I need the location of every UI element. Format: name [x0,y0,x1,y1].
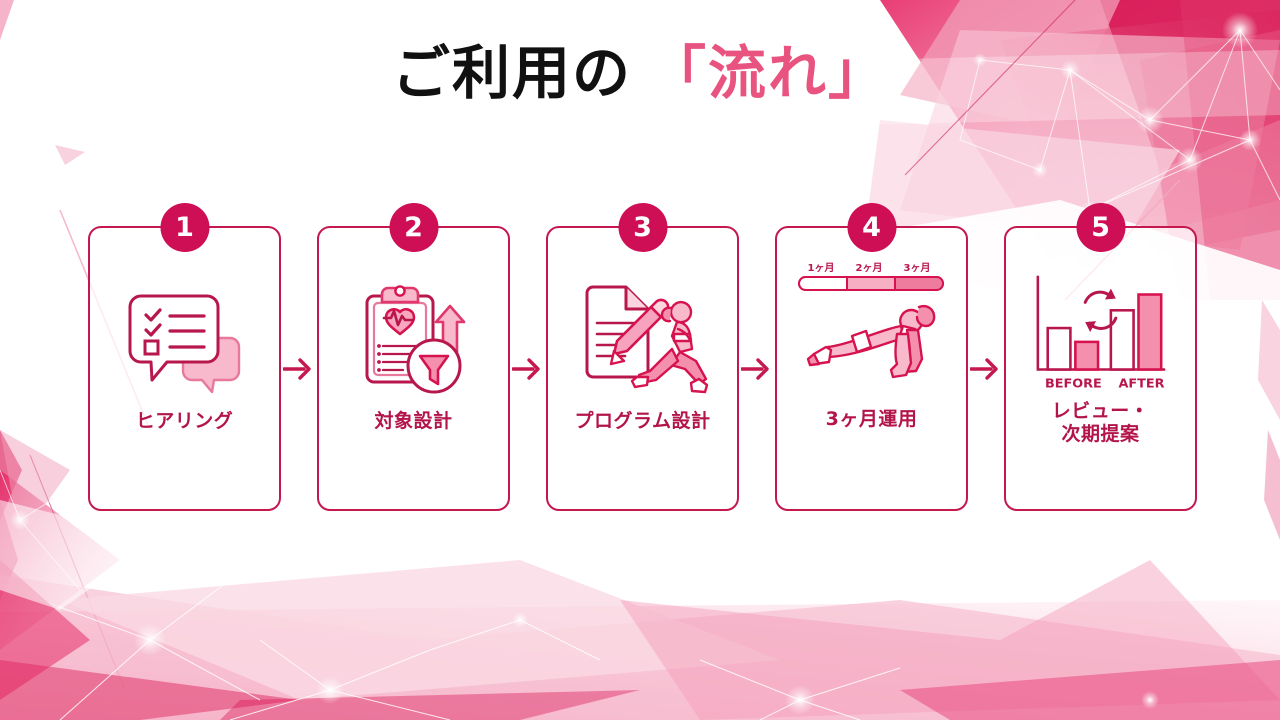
flow-step-label-5: レビュー・ 次期提案 [1048,400,1154,446]
flow-step-label-3: プログラム設計 [571,410,715,433]
step-number-badge-1: 1 [160,203,209,252]
arrow-right-icon [968,226,1004,511]
document-pencil-lunge-icon [568,276,718,404]
chart-label-after: AFTER [1118,376,1164,391]
step-number-badge-2: 2 [389,203,438,252]
progress-month-label-3: 3ヶ月 [903,262,930,274]
chart-label-before: BEFORE [1044,376,1101,391]
flow-step-1[interactable]: 1 ヒアリング [88,226,281,511]
flow-step-label-line: 対象設計 [374,410,452,433]
flow-step-label-line: 3ヶ月運用 [826,408,918,431]
bar-after-2 [1138,295,1161,370]
flow-step-label-line: 次期提案 [1052,423,1150,446]
step-number-badge-5: 5 [1076,203,1125,252]
process-flow: 1 ヒアリング 2 [88,226,1196,516]
arrow-right-icon [739,226,775,511]
flow-step-2[interactable]: 2 対象設計 [317,226,510,511]
progress-month-label-2: 2ヶ月 [855,262,882,274]
flow-step-3[interactable]: 3 [546,226,739,511]
progress-month-label-1: 1ヶ月 [807,262,834,274]
flow-step-label-2: 対象設計 [370,410,456,433]
flow-step-label-line: プログラム設計 [575,410,711,433]
bar-before-1 [1047,328,1070,369]
flow-step-label-line: レビュー・ [1052,400,1150,423]
bar-before-2 [1075,342,1098,370]
flow-step-label-line: ヒアリング [136,410,234,433]
step-number-badge-4: 4 [847,203,896,252]
before-after-chart-refresh-icon: BEFORE AFTER [1026,272,1176,394]
page-title-accent: 「流れ」 [648,39,888,107]
page-title-main: ご利用の [392,39,632,107]
step-number-badge-3: 3 [618,203,667,252]
flow-step-label-4: 3ヶ月運用 [822,408,922,431]
arrow-right-icon [510,226,546,511]
flow-step-5[interactable]: 5 BEFORE AFTER [1004,226,1197,511]
progress-plank-icon: 1ヶ月 2ヶ月 3ヶ月 [797,260,947,406]
arrow-right-icon [281,226,317,511]
clipboard-heart-funnel-icon [339,276,489,404]
speech-bubble-checklist-icon [110,276,260,404]
flow-step-4[interactable]: 4 1ヶ月 2ヶ月 3ヶ月 [775,226,968,511]
flow-step-label-1: ヒアリング [132,410,238,433]
page-title: ご利用の「流れ」 [0,26,1280,110]
progress-bar [799,277,943,290]
